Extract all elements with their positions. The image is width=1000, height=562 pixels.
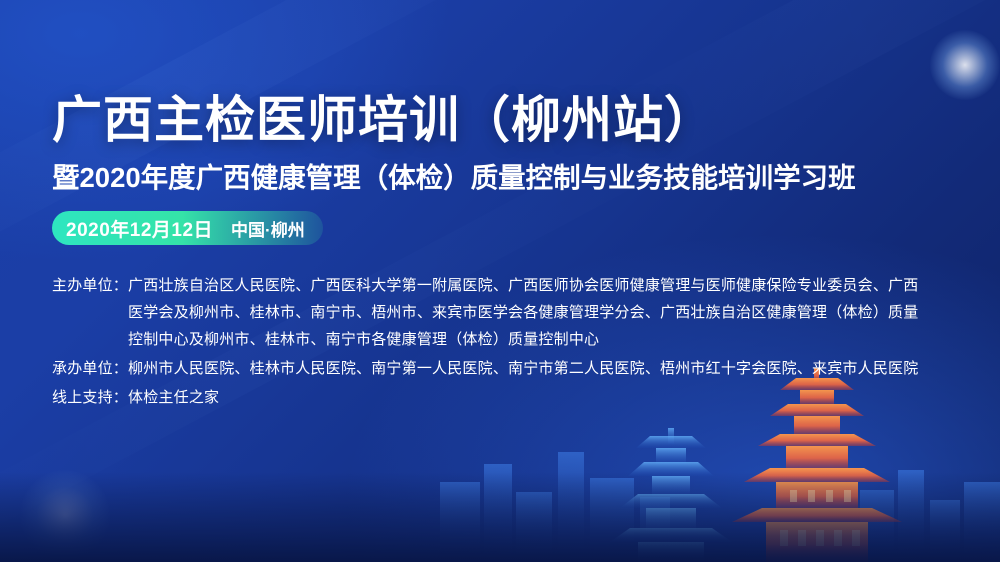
date-badge: 2020年12月12日 中国·柳州 [52, 211, 323, 245]
poster-content: 广西主检医师培训（柳州站） 暨2020年度广西健康管理（体检）质量控制与业务技能… [52, 0, 962, 562]
organizer-block: 主办单位： 广西壮族自治区人民医院、广西医科大学第一附属医院、广西医师协会医师健… [52, 272, 932, 413]
page-title: 广西主检医师培训（柳州站） [52, 80, 715, 152]
page-subtitle: 暨2020年度广西健康管理（体检）质量控制与业务技能培训学习班 [52, 155, 856, 195]
organizer-value-online-support: 体检主任之家 [128, 384, 932, 411]
organizer-label-host: 主办单位： [52, 272, 128, 299]
organizer-value-coorganizer: 柳州市人民医院、桂林市人民医院、南宁第一人民医院、南宁市第二人民医院、梧州市红十… [128, 355, 932, 382]
organizer-row-online-support: 线上支持： 体检主任之家 [52, 384, 932, 411]
date-badge-date: 2020年12月12日 [66, 215, 213, 242]
organizer-row-coorganizer: 承办单位： 柳州市人民医院、桂林市人民医院、南宁第一人民医院、南宁市第二人民医院… [52, 355, 932, 382]
organizer-value-host: 广西壮族自治区人民医院、广西医科大学第一附属医院、广西医师协会医师健康管理与医师… [128, 272, 932, 353]
date-badge-place: 中国·柳州 [231, 216, 305, 241]
organizer-label-online-support: 线上支持： [52, 384, 128, 411]
organizer-label-coorganizer: 承办单位： [52, 355, 128, 382]
poster-canvas: 广西主检医师培训（柳州站） 暨2020年度广西健康管理（体检）质量控制与业务技能… [0, 0, 1000, 562]
organizer-row-host: 主办单位： 广西壮族自治区人民医院、广西医科大学第一附属医院、广西医师协会医师健… [52, 272, 932, 353]
